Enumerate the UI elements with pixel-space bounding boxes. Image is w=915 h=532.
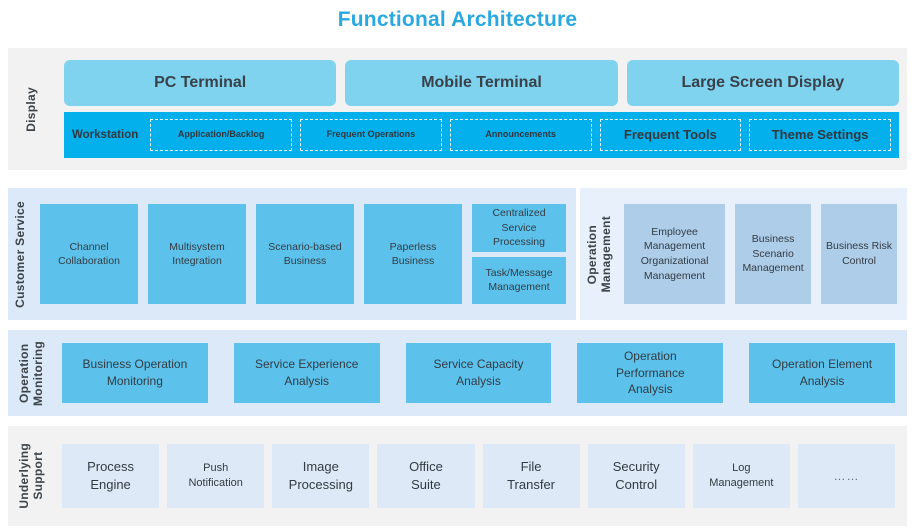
- functional-architecture-diagram: Functional Architecture Display PC Termi…: [0, 0, 915, 532]
- underlying-support-row: Process Engine Push Notification Image P…: [56, 426, 907, 526]
- operation-management-layer-label: Operation Management: [580, 188, 620, 320]
- opmon-box-service-capacity-analysis[interactable]: Service Capacity Analysis: [406, 343, 552, 403]
- workstation-item-frequent-tools[interactable]: Frequent Tools: [600, 119, 742, 151]
- opmon-box-service-experience-analysis[interactable]: Service Experience Analysis: [234, 343, 380, 403]
- workstation-row: Workstation Application/Backlog Frequent…: [64, 112, 899, 158]
- workstation-item-application-backlog[interactable]: Application/Backlog: [150, 119, 292, 151]
- display-layer: Display PC Terminal Mobile Terminal Larg…: [8, 48, 907, 170]
- cs-box-channel-collaboration[interactable]: Channel Collaboration: [40, 204, 138, 304]
- operation-management-layer-body: Employee Management Organizational Manag…: [620, 188, 907, 320]
- cs-box-task-message-management[interactable]: Task/Message Management: [472, 257, 566, 305]
- om-box-employee-management[interactable]: Employee Management Organizational Manag…: [624, 204, 725, 304]
- workstation-label: Workstation: [72, 129, 142, 141]
- cs-box-paperless-business[interactable]: Paperless Business: [364, 204, 462, 304]
- display-layer-label: Display: [8, 48, 56, 170]
- under-box-security-control[interactable]: Security Control: [588, 444, 685, 508]
- om-box-business-scenario-management[interactable]: Business Scenario Management: [735, 204, 811, 304]
- operation-management-row: Employee Management Organizational Manag…: [620, 188, 907, 320]
- opmon-box-operation-performance-analysis[interactable]: Operation Performance Analysis: [577, 343, 723, 403]
- cs-box-multisystem-integration[interactable]: Multisystem Integration: [148, 204, 246, 304]
- cs-box-scenario-based-business[interactable]: Scenario-based Business: [256, 204, 354, 304]
- cs-box-centralized-service-processing[interactable]: Centralized Service Processing: [472, 204, 566, 252]
- page-title: Functional Architecture: [0, 8, 915, 32]
- under-box-image-processing[interactable]: Image Processing: [272, 444, 369, 508]
- underlying-support-layer-body: Process Engine Push Notification Image P…: [56, 426, 907, 526]
- operation-monitoring-layer: Operation Monitoring Business Operation …: [8, 330, 907, 416]
- workstation-item-frequent-operations[interactable]: Frequent Operations: [300, 119, 442, 151]
- operation-management-layer: Operation Management Employee Management…: [580, 188, 907, 320]
- workstation-item-announcements[interactable]: Announcements: [450, 119, 592, 151]
- opmon-box-operation-element-analysis[interactable]: Operation Element Analysis: [749, 343, 895, 403]
- under-box-process-engine[interactable]: Process Engine: [62, 444, 159, 508]
- workstation-item-theme-settings[interactable]: Theme Settings: [749, 119, 891, 151]
- terminal-row: PC Terminal Mobile Terminal Large Screen…: [56, 48, 907, 106]
- customer-service-layer-body: Channel Collaboration Multisystem Integr…: [34, 188, 576, 320]
- cs-stacked-group: Centralized Service Processing Task/Mess…: [472, 204, 566, 304]
- under-box-more-ellipsis: ……: [798, 444, 895, 508]
- underlying-support-layer: Underlying Support Process Engine Push N…: [8, 426, 907, 526]
- om-box-business-risk-control[interactable]: Business Risk Control: [821, 204, 897, 304]
- customer-service-row: Channel Collaboration Multisystem Integr…: [34, 188, 576, 320]
- under-box-log-management[interactable]: Log Management: [693, 444, 790, 508]
- under-box-office-suite[interactable]: Office Suite: [377, 444, 474, 508]
- operation-monitoring-layer-body: Business Operation Monitoring Service Ex…: [56, 330, 907, 416]
- opmon-box-business-operation-monitoring[interactable]: Business Operation Monitoring: [62, 343, 208, 403]
- underlying-support-layer-label: Underlying Support: [8, 426, 56, 526]
- operation-monitoring-row: Business Operation Monitoring Service Ex…: [56, 330, 907, 416]
- under-box-file-transfer[interactable]: File Transfer: [483, 444, 580, 508]
- terminal-box-mobile[interactable]: Mobile Terminal: [345, 60, 617, 106]
- under-box-push-notification[interactable]: Push Notification: [167, 444, 264, 508]
- terminal-box-large-screen[interactable]: Large Screen Display: [627, 60, 899, 106]
- display-layer-body: PC Terminal Mobile Terminal Large Screen…: [56, 48, 907, 170]
- customer-service-layer: Customer Service Channel Collaboration M…: [8, 188, 576, 320]
- customer-service-layer-label: Customer Service: [8, 188, 34, 320]
- terminal-box-pc[interactable]: PC Terminal: [64, 60, 336, 106]
- operation-monitoring-layer-label: Operation Monitoring: [8, 330, 56, 416]
